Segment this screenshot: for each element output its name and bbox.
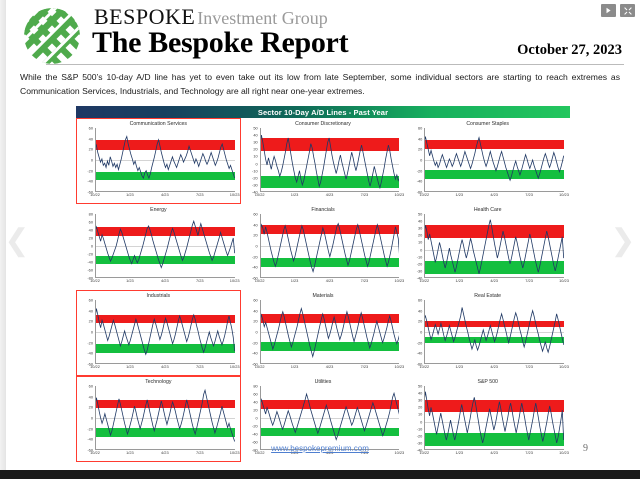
x-axis: 10/221/234/237/2310/23 — [260, 364, 400, 372]
x-tick-label: 10/23 — [559, 192, 569, 197]
x-axis: 10/221/234/237/2310/23 — [424, 278, 564, 286]
y-tick-label: -20 — [87, 252, 93, 257]
plot-wrap: 806040200-20-40-60-80 — [260, 386, 400, 450]
viewer-bottom-bar — [0, 470, 640, 479]
expand-icon — [624, 7, 632, 15]
x-tick-label: 10/23 — [394, 278, 404, 283]
y-tick-label: -20 — [87, 340, 93, 345]
y-tick-label: 60 — [418, 298, 422, 303]
chart-grid: Communication Services6040200-20-40-6010… — [76, 118, 570, 462]
y-tick-label: 40 — [89, 394, 93, 399]
chart-cell: Consumer Discretionary50403020100-10-20-… — [241, 118, 406, 204]
plot-area — [95, 128, 235, 192]
x-tick-label: 7/23 — [525, 364, 533, 369]
x-tick-label: 10/22 — [419, 278, 429, 283]
x-axis: 10/221/234/237/2310/23 — [95, 450, 235, 458]
y-tick-label: 60 — [89, 126, 93, 131]
chart-cell: Financials6040200-20-40-6010/221/234/237… — [241, 204, 406, 290]
x-axis: 10/221/234/237/2310/23 — [424, 364, 564, 372]
chart-title: Energy — [78, 207, 239, 214]
x-tick-label: 7/23 — [196, 450, 204, 455]
y-tick-label: 20 — [253, 319, 257, 324]
x-tick-label: 1/23 — [455, 192, 463, 197]
y-tick-label: 20 — [253, 147, 257, 152]
y-tick-label: 60 — [253, 212, 257, 217]
ad-line-series — [424, 300, 564, 364]
ad-line-series — [95, 386, 235, 450]
x-tick-label: 7/23 — [361, 192, 369, 197]
y-axis-line — [95, 128, 96, 192]
y-tick-label: 0 — [420, 158, 422, 163]
y-tick-label: 40 — [253, 222, 257, 227]
plot-area — [424, 300, 564, 364]
y-tick-label: 50 — [253, 126, 257, 131]
x-tick-label: 4/23 — [490, 364, 498, 369]
y-tick-label: -20 — [87, 426, 93, 431]
x-tick-label: 1/23 — [291, 278, 299, 283]
x-tick-label: 7/23 — [361, 278, 369, 283]
y-tick-label: 20 — [418, 233, 422, 238]
y-tick-label: 20 — [253, 408, 257, 413]
plot-area — [260, 386, 400, 450]
x-tick-label: 10/23 — [230, 364, 240, 369]
y-tick-label: -40 — [87, 260, 93, 265]
y-tick-label: 0 — [420, 419, 422, 424]
next-slide-arrow-icon[interactable]: ❯ — [610, 224, 636, 258]
chart-title: Materials — [243, 293, 404, 300]
y-axis-line — [95, 300, 96, 364]
header-divider — [46, 64, 624, 65]
y-tick-label: 0 — [255, 161, 257, 166]
y-tick-label: -20 — [417, 168, 423, 173]
x-tick-label: 10/22 — [255, 364, 265, 369]
y-tick-label: 10 — [418, 240, 422, 245]
y-axis: 806040200-20-40-60-80 — [243, 386, 259, 450]
y-tick-label: 50 — [418, 212, 422, 217]
x-tick-label: 7/23 — [525, 278, 533, 283]
y-tick-label: 10 — [253, 154, 257, 159]
y-axis: 6040200-20-40-60 — [78, 300, 94, 364]
y-tick-label: 20 — [253, 233, 257, 238]
plot-area — [260, 300, 400, 364]
fullscreen-button[interactable] — [620, 4, 635, 17]
x-tick-label: 1/23 — [455, 278, 463, 283]
ad-line-series — [424, 128, 564, 192]
y-tick-label: 40 — [253, 133, 257, 138]
y-tick-label: -20 — [417, 261, 423, 266]
plot-area — [95, 386, 235, 450]
presentation-viewer: ❮ ❯ — [0, 0, 640, 479]
ad-line-series — [424, 386, 564, 450]
y-tick-label: 0 — [255, 330, 257, 335]
y-axis: 6040200-20-40-60 — [243, 214, 259, 278]
y-tick-label: 40 — [418, 308, 422, 313]
chart-title: S&P 500 — [407, 379, 568, 386]
y-tick-label: -40 — [87, 351, 93, 356]
x-tick-label: 7/23 — [525, 192, 533, 197]
x-tick-label: 10/23 — [394, 364, 404, 369]
x-tick-label: 10/22 — [419, 364, 429, 369]
y-tick-label: 20 — [89, 405, 93, 410]
prev-slide-arrow-icon[interactable]: ❮ — [4, 224, 30, 258]
y-tick-label: 80 — [89, 212, 93, 217]
y-axis: 50403020100-10-20-30-40 — [407, 214, 423, 278]
chart-cell: Real Estate6040200-20-40-6010/221/234/23… — [405, 290, 570, 376]
chart-title: Real Estate — [407, 293, 568, 300]
x-tick-label: 10/22 — [90, 364, 100, 369]
x-tick-label: 4/23 — [326, 364, 334, 369]
chart-title: Industrials — [78, 293, 239, 300]
x-tick-label: 4/23 — [326, 278, 334, 283]
x-tick-label: 10/22 — [255, 278, 265, 283]
x-tick-label: 10/23 — [559, 278, 569, 283]
y-tick-label: 60 — [89, 298, 93, 303]
y-tick-label: 20 — [89, 319, 93, 324]
chart-title: Technology — [78, 379, 239, 386]
chart-cell: Industrials6040200-20-40-6010/221/234/23… — [76, 290, 241, 376]
y-tick-label: -20 — [252, 175, 258, 180]
page-number: 9 — [583, 443, 588, 454]
y-tick-label: -60 — [87, 268, 93, 273]
panel-title: Sector 10-Day A/D Lines - Past Year — [76, 106, 570, 118]
chart-title: Utilities — [243, 379, 404, 386]
y-tick-label: -40 — [252, 265, 258, 270]
y-tick-label: 60 — [89, 384, 93, 389]
y-axis: 50403020100-10-20-30-40 — [243, 128, 259, 192]
plot-wrap: 6040200-20-40-60 — [95, 128, 235, 192]
x-tick-label: 1/23 — [126, 364, 134, 369]
y-tick-label: -20 — [252, 424, 258, 429]
plot-wrap: 6040200-20-40-60 — [424, 300, 564, 364]
chart-cell: Communication Services6040200-20-40-6010… — [76, 118, 241, 204]
y-axis-line — [424, 300, 425, 364]
y-tick-label: 30 — [418, 226, 422, 231]
x-tick-label: 7/23 — [196, 192, 204, 197]
y-tick-label: -10 — [417, 254, 423, 259]
slide-header: BESPOKEInvestment Group The Bespoke Repo… — [16, 4, 624, 66]
chart-cell: Technology6040200-20-40-6010/221/234/237… — [76, 376, 241, 462]
brand-secondary: Investment Group — [197, 8, 327, 28]
x-tick-label: 7/23 — [196, 364, 204, 369]
y-tick-label: 60 — [253, 298, 257, 303]
ad-line-series — [260, 128, 400, 192]
y-tick-label: 40 — [89, 228, 93, 233]
plot-area — [424, 214, 564, 278]
website-link[interactable]: www.bespokepremium.com — [271, 444, 369, 453]
y-tick-label: -10 — [252, 168, 258, 173]
x-tick-label: 10/22 — [90, 192, 100, 197]
x-tick-label: 10/22 — [255, 192, 265, 197]
y-tick-label: 30 — [253, 140, 257, 145]
chart-title: Health Care — [407, 207, 568, 214]
y-axis: 6040200-20-40-60 — [243, 300, 259, 364]
y-axis: 806040200-20-40-60-80 — [78, 214, 94, 278]
y-tick-label: 40 — [89, 308, 93, 313]
y-tick-label: 0 — [255, 244, 257, 249]
x-tick-label: 7/23 — [361, 364, 369, 369]
ad-line-series — [260, 214, 400, 278]
report-date: October 27, 2023 — [517, 42, 622, 59]
x-tick-label: 4/23 — [161, 192, 169, 197]
x-tick-label: 10/23 — [230, 192, 240, 197]
x-tick-label: 4/23 — [161, 278, 169, 283]
x-tick-label: 1/23 — [126, 450, 134, 455]
y-axis-line — [260, 300, 261, 364]
intro-paragraph: While the S&P 500’s 10-day A/D line has … — [20, 71, 620, 98]
y-tick-label: 0 — [91, 158, 93, 163]
y-tick-label: 40 — [418, 136, 422, 141]
y-tick-label: -40 — [252, 432, 258, 437]
y-axis-line — [95, 214, 96, 278]
plot-wrap: 6040200-20-40-60 — [95, 300, 235, 364]
plot-wrap: 6040200-20-40-60 — [260, 214, 400, 278]
plot-area — [95, 214, 235, 278]
y-tick-label: 40 — [418, 219, 422, 224]
y-axis: 50403020100-10-20-30-40 — [407, 386, 423, 450]
y-tick-label: 40 — [253, 400, 257, 405]
y-tick-label: -30 — [417, 268, 423, 273]
plot-area — [260, 214, 400, 278]
plot-wrap: 6040200-20-40-60 — [95, 386, 235, 450]
plot-area — [424, 128, 564, 192]
y-tick-label: -20 — [252, 340, 258, 345]
y-tick-label: -30 — [252, 182, 258, 187]
x-tick-label: 4/23 — [490, 278, 498, 283]
x-tick-label: 1/23 — [455, 364, 463, 369]
y-tick-label: 40 — [418, 391, 422, 396]
y-axis-line — [424, 128, 425, 192]
y-axis: 6040200-20-40-60 — [407, 300, 423, 364]
y-tick-label: -40 — [417, 179, 423, 184]
y-tick-label: 10 — [418, 412, 422, 417]
ad-line-series — [95, 300, 235, 364]
plot-area — [95, 300, 235, 364]
x-axis: 10/221/234/237/2310/23 — [95, 364, 235, 372]
ad-line-series — [260, 386, 400, 450]
x-tick-label: 4/23 — [161, 364, 169, 369]
x-tick-label: 4/23 — [490, 192, 498, 197]
present-button[interactable] — [601, 4, 616, 17]
plot-wrap: 50403020100-10-20-30-40 — [260, 128, 400, 192]
y-axis: 6040200-20-40-60 — [78, 386, 94, 450]
chart-title: Financials — [243, 207, 404, 214]
y-tick-label: 50 — [418, 384, 422, 389]
y-tick-label: -40 — [87, 179, 93, 184]
plot-wrap: 806040200-20-40-60-80 — [95, 214, 235, 278]
charts-panel: Sector 10-Day A/D Lines - Past Year Comm… — [76, 106, 570, 462]
y-axis-line — [424, 214, 425, 278]
x-tick-label: 10/22 — [90, 450, 100, 455]
y-axis: 6040200-20-40-60 — [78, 128, 94, 192]
plot-wrap: 6040200-20-40-60 — [260, 300, 400, 364]
y-tick-label: 60 — [253, 392, 257, 397]
x-tick-label: 4/23 — [161, 450, 169, 455]
y-tick-label: 0 — [91, 330, 93, 335]
plot-wrap: 50403020100-10-20-30-40 — [424, 386, 564, 450]
x-tick-label: 10/23 — [230, 450, 240, 455]
x-tick-label: 10/22 — [90, 278, 100, 283]
x-tick-label: 10/23 — [559, 364, 569, 369]
y-tick-label: 30 — [418, 398, 422, 403]
x-tick-label: 4/23 — [326, 192, 334, 197]
chart-title: Consumer Discretionary — [243, 121, 404, 128]
x-axis: 10/221/234/237/2310/23 — [95, 278, 235, 286]
x-tick-label: 10/22 — [419, 192, 429, 197]
y-axis-line — [260, 128, 261, 192]
y-tick-label: -20 — [417, 433, 423, 438]
y-tick-label: 0 — [91, 416, 93, 421]
y-tick-label: -40 — [417, 351, 423, 356]
x-tick-label: 1/23 — [291, 364, 299, 369]
y-tick-label: -20 — [87, 168, 93, 173]
y-tick-label: 20 — [418, 147, 422, 152]
chart-cell: Materials6040200-20-40-6010/221/234/237/… — [241, 290, 406, 376]
x-axis: 10/221/234/237/2310/23 — [95, 192, 235, 200]
plot-wrap: 50403020100-10-20-30-40 — [424, 214, 564, 278]
y-axis-line — [95, 386, 96, 450]
y-tick-label: 60 — [418, 126, 422, 131]
y-tick-label: -10 — [417, 426, 423, 431]
y-tick-label: 40 — [89, 136, 93, 141]
y-tick-label: -20 — [252, 254, 258, 259]
y-tick-label: 60 — [89, 220, 93, 225]
y-tick-label: -20 — [417, 340, 423, 345]
x-tick-label: 1/23 — [126, 278, 134, 283]
plot-area — [424, 386, 564, 450]
chart-cell: Consumer Staples6040200-20-40-6010/221/2… — [405, 118, 570, 204]
y-tick-label: 20 — [89, 236, 93, 241]
y-tick-label: -40 — [252, 351, 258, 356]
y-tick-label: 40 — [253, 308, 257, 313]
ad-line-series — [424, 214, 564, 278]
y-axis-line — [260, 214, 261, 278]
play-icon — [605, 7, 612, 14]
y-tick-label: 0 — [420, 330, 422, 335]
x-tick-label: 1/23 — [291, 192, 299, 197]
y-tick-label: 0 — [255, 416, 257, 421]
y-tick-label: 80 — [253, 384, 257, 389]
viewer-controls — [601, 4, 635, 17]
y-tick-label: 0 — [420, 247, 422, 252]
y-tick-label: 20 — [89, 147, 93, 152]
plot-wrap: 6040200-20-40-60 — [424, 128, 564, 192]
y-axis-line — [424, 386, 425, 450]
y-axis-line — [260, 386, 261, 450]
chart-title: Consumer Staples — [407, 121, 568, 128]
ad-line-series — [95, 128, 235, 192]
chart-cell: Energy806040200-20-40-60-8010/221/234/23… — [76, 204, 241, 290]
y-tick-label: 20 — [418, 319, 422, 324]
x-tick-label: 1/23 — [126, 192, 134, 197]
x-axis: 10/221/234/237/2310/23 — [260, 192, 400, 200]
plot-area — [260, 128, 400, 192]
x-axis: 10/221/234/237/2310/23 — [260, 278, 400, 286]
y-tick-label: 20 — [418, 405, 422, 410]
page-title: The Bespoke Report — [92, 26, 348, 60]
chart-title: Communication Services — [78, 121, 239, 128]
bespoke-lattice-logo — [20, 7, 84, 65]
ad-line-series — [95, 214, 235, 278]
slide-canvas: BESPOKEInvestment Group The Bespoke Repo… — [8, 0, 632, 470]
x-tick-label: 10/23 — [394, 192, 404, 197]
x-axis: 10/221/234/237/2310/23 — [424, 192, 564, 200]
x-tick-label: 7/23 — [196, 278, 204, 283]
y-tick-label: 0 — [91, 244, 93, 249]
y-axis: 6040200-20-40-60 — [407, 128, 423, 192]
y-tick-label: -40 — [87, 437, 93, 442]
chart-cell: Health Care50403020100-10-20-30-4010/221… — [405, 204, 570, 290]
x-tick-label: 10/23 — [230, 278, 240, 283]
ad-line-series — [260, 300, 400, 364]
